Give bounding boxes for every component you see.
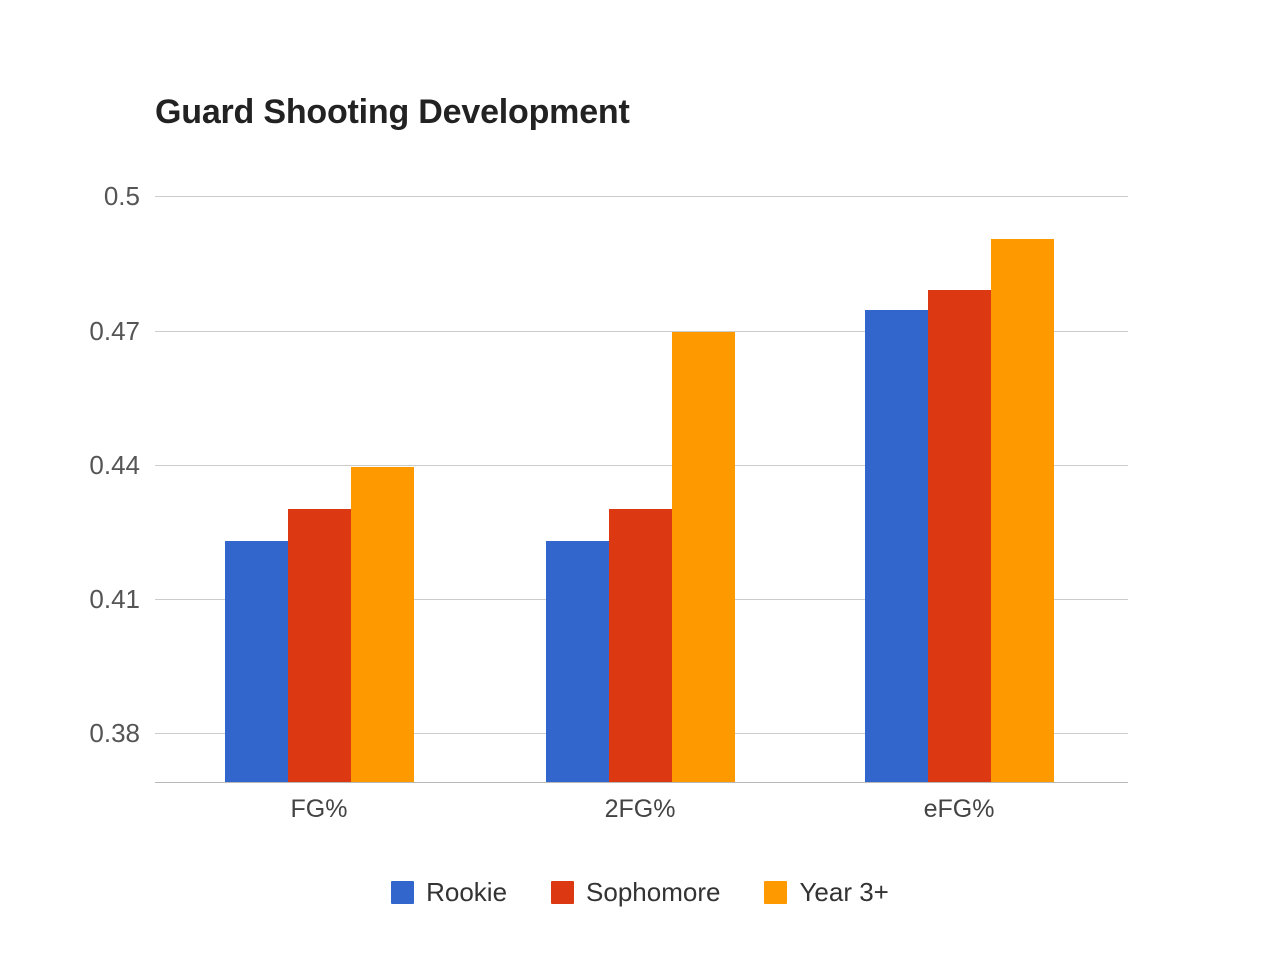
legend-label: Rookie	[426, 877, 507, 908]
x-axis-tick-label: 2FG%	[605, 795, 676, 824]
chart-container: Guard Shooting Development 0.50.470.440.…	[0, 0, 1280, 966]
bar-rookie-efg[interactable]	[865, 310, 928, 782]
chart-legend: RookieSophomoreYear 3+	[0, 877, 1280, 908]
bar-sophomore-2fg[interactable]	[609, 509, 672, 782]
bar-year-3-efg[interactable]	[991, 239, 1054, 782]
x-axis-tick-label: FG%	[291, 795, 348, 824]
axis-baseline	[155, 782, 1128, 783]
legend-label: Year 3+	[799, 877, 888, 908]
y-axis-tick-label: 0.5	[20, 183, 140, 209]
legend-item[interactable]: Year 3+	[764, 877, 888, 908]
y-axis-tick-label: 0.38	[20, 720, 140, 746]
legend-swatch-icon	[391, 881, 414, 904]
bar-rookie-2fg[interactable]	[546, 541, 609, 782]
legend-label: Sophomore	[586, 877, 720, 908]
plot-area	[155, 183, 1128, 782]
chart-title: Guard Shooting Development	[155, 93, 630, 132]
y-axis-tick-label: 0.47	[20, 318, 140, 344]
y-axis-tick-label: 0.44	[20, 452, 140, 478]
legend-item[interactable]: Sophomore	[551, 877, 720, 908]
bar-year-3-2fg[interactable]	[672, 332, 735, 782]
bar-rookie-fg[interactable]	[225, 541, 288, 782]
x-axis-tick-label: eFG%	[924, 795, 995, 824]
y-axis-tick-label: 0.41	[20, 586, 140, 612]
legend-swatch-icon	[764, 881, 787, 904]
legend-swatch-icon	[551, 881, 574, 904]
bar-sophomore-fg[interactable]	[288, 509, 351, 782]
gridline	[155, 196, 1128, 197]
bar-sophomore-efg[interactable]	[928, 290, 991, 782]
bar-year-3-fg[interactable]	[351, 467, 414, 782]
legend-item[interactable]: Rookie	[391, 877, 507, 908]
